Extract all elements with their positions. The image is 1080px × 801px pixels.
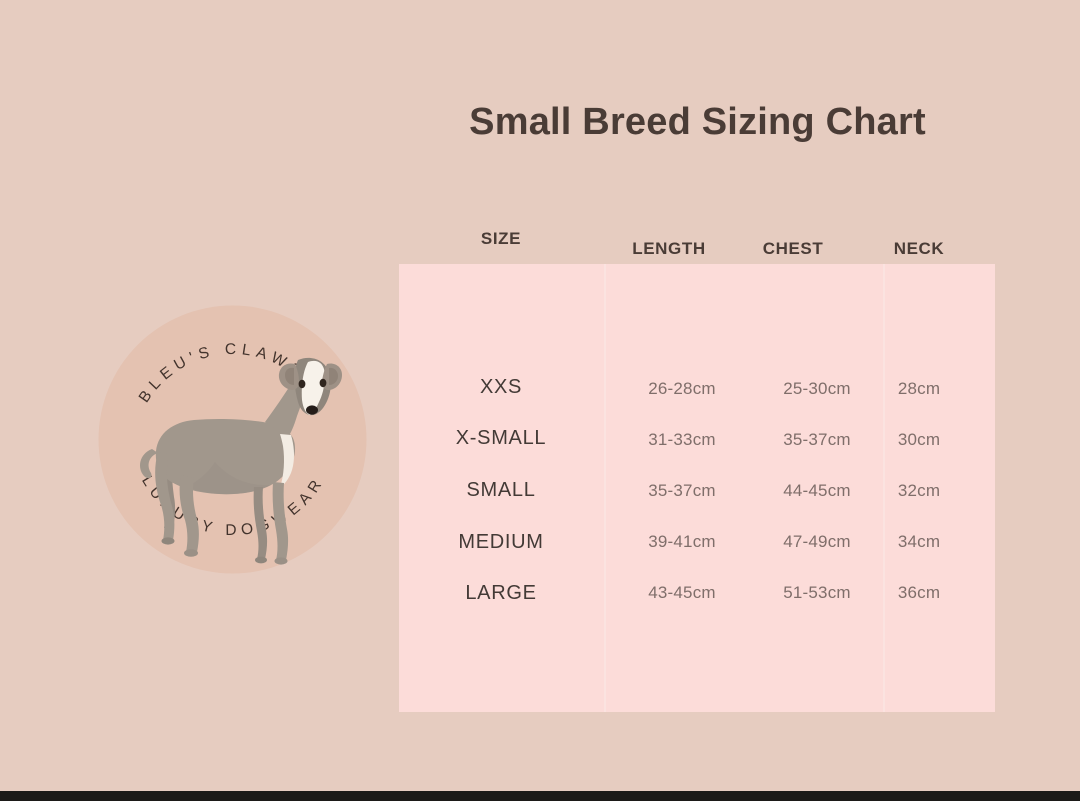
bottom-edge-band	[0, 791, 1080, 801]
column-header-length: LENGTH	[609, 239, 729, 259]
column-header-neck: NECK	[859, 239, 979, 259]
column-header-chest: CHEST	[733, 239, 853, 259]
row-length-value: 35-37cm	[617, 481, 747, 501]
row-neck-value: 28cm	[859, 379, 979, 399]
row-size-label: LARGE	[411, 582, 591, 605]
row-neck-value: 30cm	[859, 430, 979, 450]
sizing-chart-page: Small Breed Sizing Chart BLEU'S CLAWSET …	[0, 0, 1080, 801]
column-divider-1	[604, 264, 606, 712]
row-neck-value: 34cm	[859, 532, 979, 552]
row-size-label: MEDIUM	[411, 531, 591, 554]
row-size-label: XXS	[411, 376, 591, 399]
row-length-value: 43-45cm	[617, 583, 747, 603]
row-neck-value: 32cm	[859, 481, 979, 501]
row-size-label: SMALL	[411, 479, 591, 502]
row-length-value: 39-41cm	[617, 532, 747, 552]
column-header-size: SIZE	[441, 229, 561, 249]
page-title: Small Breed Sizing Chart	[400, 99, 995, 145]
row-length-value: 26-28cm	[617, 379, 747, 399]
row-size-label: X-SMALL	[411, 427, 591, 450]
row-neck-value: 36cm	[859, 583, 979, 603]
brand-logo: BLEU'S CLAWSET LUXURY DOGWEAR	[95, 302, 370, 577]
row-length-value: 31-33cm	[617, 430, 747, 450]
